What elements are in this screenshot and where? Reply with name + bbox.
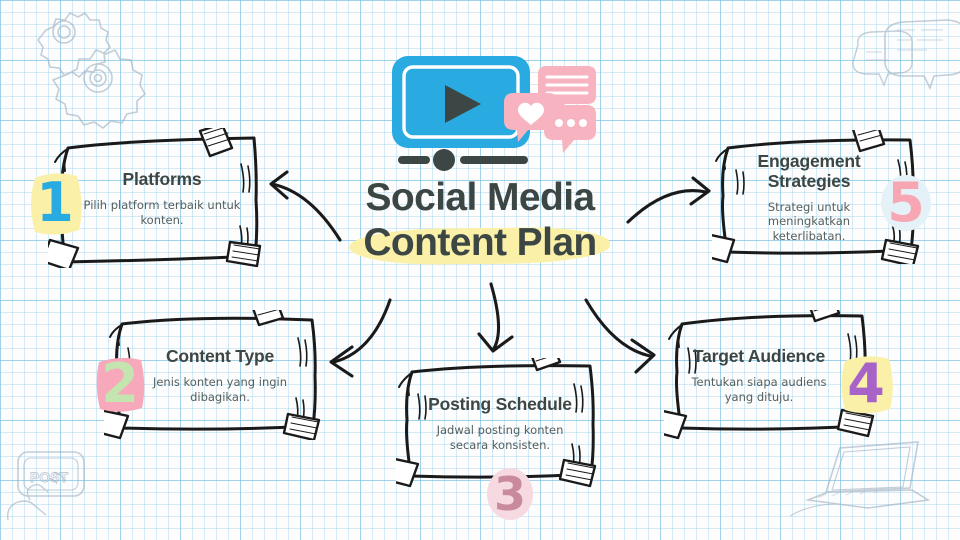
- card-description: Jenis konten yang ingin dibagikan.: [134, 375, 306, 404]
- card-number-5: 5: [878, 172, 934, 234]
- card-description: Strategi untuk meningkatkan keterlibatan…: [736, 200, 882, 244]
- card-description: Tentukan siapa audiens yang dituju.: [686, 375, 832, 404]
- arrow-to-posting-schedule: [479, 284, 512, 351]
- card-title: Target Audience: [693, 346, 825, 366]
- card-title: Posting Schedule: [428, 394, 572, 414]
- number-glyph: 3: [494, 471, 526, 517]
- title-line-1: Social Media: [365, 175, 594, 220]
- video-player-icon: [388, 52, 598, 172]
- number-glyph: 4: [847, 357, 885, 411]
- dots-bubble-icon: [544, 105, 596, 153]
- card-number-2: 2: [93, 352, 147, 416]
- card-title: Engagement Strategies: [736, 151, 882, 191]
- card-number-4: 4: [838, 352, 894, 416]
- card-number-3: 3: [485, 466, 535, 522]
- card-title: Platforms: [123, 169, 202, 189]
- card-description: Pilih platform terbaik untuk konten.: [82, 198, 242, 227]
- card-title: Content Type: [166, 346, 274, 366]
- title-line-2: Content Plan: [363, 220, 596, 265]
- arrow-to-engagement: [628, 178, 709, 222]
- card-number-1: 1: [26, 168, 84, 238]
- infographic-canvas: POST: [0, 0, 960, 540]
- arrow-to-content-type: [331, 300, 390, 376]
- card-description: Jadwal posting konten secara konsisten.: [422, 423, 578, 452]
- number-glyph: 2: [101, 357, 139, 411]
- progress-bar-icon: [398, 149, 528, 171]
- number-glyph: 5: [887, 176, 925, 230]
- number-glyph: 1: [36, 176, 74, 230]
- page-title: Social Media Content Plan: [330, 175, 630, 265]
